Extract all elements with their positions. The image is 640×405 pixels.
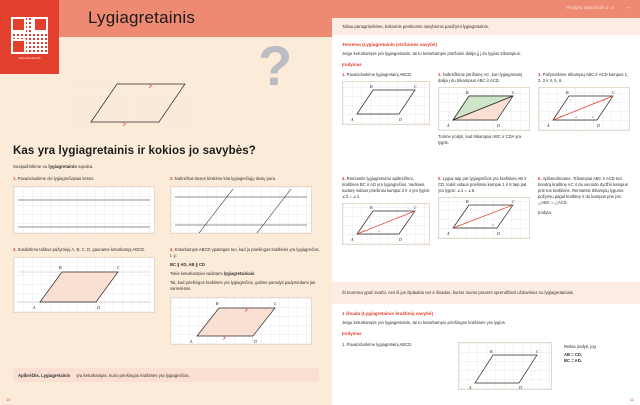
svg-text:4: 4	[378, 229, 380, 233]
svg-text:C: C	[612, 90, 615, 95]
proof-step-5-figure: 1 6 B C A D	[438, 197, 530, 239]
step-4-line2-prefix: Tokie keturkampiai vadinami	[170, 271, 224, 276]
corollary-step-1-label: 1. Pavaizduokime lygiagretainį ABCD.	[342, 342, 412, 347]
step-4-label: Keturkampis ABCD ypatingas tuo, kad jo p…	[170, 247, 320, 258]
svg-text:C: C	[414, 205, 417, 210]
proof-step-2-number: 2.	[438, 72, 442, 77]
svg-text:D: D	[496, 231, 500, 236]
lead-bold: lygiagretainio	[48, 164, 77, 169]
svg-text:1: 1	[470, 207, 472, 211]
step-4-text: 4. Keturkampis ABCD ypatingas tuo, kad j…	[170, 247, 320, 259]
step-4-line2-bold: lygiagretainiais	[224, 271, 255, 276]
svg-text:A: A	[189, 339, 193, 344]
workbook-reference-link[interactable]: Pratybų sąsiuvinis p. 4	[566, 5, 614, 10]
step-2-label: Nubrėžtas tieses kirskime kita lygiagreč…	[175, 176, 276, 181]
corollary-figure: B C A D	[458, 342, 552, 390]
svg-text:B: B	[466, 199, 469, 204]
proof-step-6-block: 6. Apibendriname. Trikampiai ABC ir ACD …	[538, 176, 630, 217]
proof-step-4-text: 4. Remiantis lygiagretainio apibrėžtimi,…	[342, 176, 430, 200]
corollary-title: 1 išvada (Lygiagretainio kraštinių savyb…	[342, 311, 632, 316]
proof-step-3-number: 3.	[538, 72, 542, 77]
proof-step-5-label: Lygiai taip pat lygiagrečios yra kraštin…	[438, 176, 527, 193]
proof-step-2-text: 2. Nubrėžkime įstrižainę AC, kuri lygiag…	[438, 72, 530, 84]
theorem-body: Jeigu keturkampis yra lygiagretainis, ta…	[342, 51, 632, 56]
svg-text:A: A	[350, 237, 354, 242]
qr-caption: vadovelis/lsomth	[18, 57, 40, 60]
svg-text:A: A	[446, 231, 450, 236]
proof-step-4-label: Remiantis lygiagretainio apibrėžtimi, kr…	[342, 176, 430, 199]
proof-step-3-text: 3. Pažymėkime trikampių ABC ir ACD kampu…	[538, 72, 630, 84]
step-2-block: 2. Nubrėžtas tieses kirskime kita lygiag…	[170, 176, 320, 234]
proof-step-1-number: 1.	[342, 72, 346, 77]
lead-suffix: sąvoka.	[77, 164, 93, 169]
svg-text:C: C	[117, 265, 120, 270]
step-1-figure	[13, 186, 155, 234]
proof-step-3-label: Pažymėkime trikampių ABC ir ACD kampus 1…	[538, 72, 628, 83]
svg-text:6: 6	[592, 115, 594, 119]
proof-step-4-block: 4. Remiantis lygiagretainio apibrėžtimi,…	[342, 176, 430, 245]
step-2-figure	[170, 186, 312, 234]
svg-text:C: C	[274, 301, 277, 306]
step-1-number: 1.	[13, 176, 17, 181]
proof-step-4-figure: 3 4 B C A D	[342, 203, 430, 245]
right-page: Pratybų sąsiuvinis p. 4 → Toliau panagri…	[332, 0, 640, 405]
note-text: Ši teorema ypač svarbi, nes iš jos išpla…	[332, 290, 584, 296]
proof-done-label: Įrodyta.	[538, 210, 630, 216]
svg-text:B: B	[216, 301, 219, 306]
section-heading: Kas yra lygiagretainis ir kokios jo savy…	[13, 145, 256, 157]
svg-text:C: C	[414, 84, 417, 89]
proof-step-1-block: 1. Pavaizduokime lygiagretainį ABCD. B C…	[342, 72, 430, 125]
proof-step-1-label: Pavaizduokime lygiagretainį ABCD.	[347, 72, 413, 77]
lead-paragraph: Susipažinkime su lygiagretainio sąvoka.	[13, 164, 93, 169]
step-4-number: 4.	[170, 247, 174, 252]
svg-text:B: B	[566, 90, 569, 95]
proof-step-3-block: 3. Pažymėkime trikampių ABC ir ACD kampu…	[538, 72, 630, 131]
proof-step-2-block: 2. Nubrėžkime įstrižainę AC, kuri lygiag…	[438, 72, 530, 146]
step-4-block: 4. Keturkampis ABCD ypatingas tuo, kad j…	[170, 247, 320, 345]
step-3-label: Susikirtimo taškus pažymėję A, B, C, D, …	[18, 247, 146, 252]
svg-text:D: D	[496, 123, 500, 128]
proof-step-6-number: 6.	[538, 176, 542, 181]
corollary-equation-2: BC = AD.	[564, 358, 634, 364]
proof-step-2-figure: B C A D	[438, 87, 530, 131]
page-title: Lygiagretainis	[88, 8, 195, 28]
corollary-step-1-block: 1. Pavaizduokime lygiagretainį ABCD.	[342, 342, 452, 348]
proof-step-5-number: 5.	[438, 176, 442, 181]
step-4-figure: B C A D	[170, 297, 312, 345]
svg-text:A: A	[546, 123, 550, 128]
lead-prefix: Susipažinkime su	[13, 164, 48, 169]
definition-rest: yra keturkampis, kurio priešingos krašti…	[70, 373, 190, 378]
step-4-line2: Tokie keturkampiai vadinami lygiagretain…	[170, 271, 320, 277]
step-3-number: 3.	[13, 247, 17, 252]
step-4-line2-suffix: .	[254, 271, 255, 276]
definition-box: Apibrėžtis. Lygiagretainis yra keturkamp…	[13, 368, 319, 382]
arrow-right-icon[interactable]: →	[625, 4, 632, 11]
svg-text:D: D	[518, 385, 522, 390]
qr-code-icon[interactable]	[11, 17, 48, 54]
step-4-formula: BC ∥ AD, AB ∥ CD	[170, 262, 320, 268]
proof-step-5-block: 5. Lygiai taip pat lygiagrečios yra kraš…	[438, 176, 530, 239]
proof-step-2-caption: Turime įrodyti, kad trikampiai ABC ir CD…	[438, 134, 530, 146]
corollary-side-note-block: Reikia įrodyti, jog AB = CD, BC = AD.	[564, 344, 634, 364]
left-page: vadovelis/lsomth Lygiagretainis ? Kas yr…	[0, 0, 332, 405]
proof-step-3-figure: 1 2 3 4 5 6 B C A D	[538, 87, 630, 131]
definition-text: Apibrėžtis. Lygiagretainis yra keturkamp…	[13, 373, 190, 378]
question-mark-decoration: ?	[258, 38, 292, 94]
proof-step-6-text: 6. Apibendriname. Trikampiai ABC ir ACD …	[538, 176, 630, 206]
step-1-block: 1. Pavaizduokime dvi lygiagrečiąsias tie…	[13, 176, 163, 234]
svg-text:1: 1	[570, 98, 572, 102]
step-3-figure: B C A D	[13, 257, 155, 313]
step-3-text: 3. Susikirtimo taškus pažymėję A, B, C, …	[13, 247, 163, 253]
corollary-side-note: Reikia įrodyti, jog	[564, 344, 634, 350]
proof-step-2-label: Nubrėžkime įstrižainę AC, kuri lygiagret…	[438, 72, 522, 83]
left-page-number: 10	[6, 397, 10, 402]
svg-text:D: D	[253, 339, 257, 344]
svg-text:D: D	[96, 305, 100, 310]
svg-text:D: D	[596, 123, 600, 128]
definition-bold: Apibrėžtis. Lygiagretainis	[18, 373, 70, 378]
intro-band: Toliau panagrinėkime, kokiomis penkiomis…	[332, 18, 640, 35]
svg-text:D: D	[398, 237, 402, 242]
corollary-step-1-text: 1. Pavaizduokime lygiagretainį ABCD.	[342, 342, 452, 348]
svg-text:2: 2	[603, 98, 605, 102]
svg-text:A: A	[350, 117, 354, 122]
corollary-body: Jeigu keturkampis yra lygiagretainis, ta…	[342, 320, 632, 325]
step-1-text: 1. Pavaizduokime dvi lygiagrečiąsias tie…	[13, 176, 163, 182]
step-2-text: 2. Nubrėžtas tieses kirskime kita lygiag…	[170, 176, 320, 182]
hero-parallelogram-figure	[73, 78, 193, 126]
svg-text:B: B	[490, 349, 493, 354]
svg-text:4: 4	[575, 115, 577, 119]
svg-text:5: 5	[593, 101, 595, 105]
corollary-proof-label: Įrodymas	[342, 331, 632, 336]
svg-text:A: A	[468, 385, 472, 390]
svg-text:3: 3	[363, 229, 365, 233]
svg-text:B: B	[466, 90, 469, 95]
svg-text:B: B	[370, 84, 373, 89]
textbook-spread: vadovelis/lsomth Lygiagretainis ? Kas yr…	[0, 0, 640, 405]
proof-step-1-figure: B C A D	[342, 81, 430, 125]
intro-text: Toliau panagrinėkime, kokiomis penkiomis…	[332, 24, 489, 29]
proof-step-1-text: 1. Pavaizduokime lygiagretainį ABCD.	[342, 72, 430, 78]
step-4-line3: Tai, kad priešingos kraštinės yra lygiag…	[170, 280, 320, 292]
note-band: Ši teorema ypač svarbi, nes iš jos išpla…	[332, 282, 640, 304]
svg-text:6: 6	[492, 223, 494, 227]
right-page-number: 11	[630, 397, 634, 402]
theorem-title: Teorema (Lygiagretainio įstrižainės savy…	[342, 42, 632, 47]
proof-step-5-text: 5. Lygiai taip pat lygiagrečios yra kraš…	[438, 176, 530, 194]
proof-step-4-number: 4.	[342, 176, 346, 181]
svg-text:A: A	[32, 305, 36, 310]
svg-text:D: D	[398, 117, 402, 122]
proof-label: Įrodymas	[342, 62, 632, 67]
svg-text:C: C	[536, 349, 539, 354]
step-3-block: 3. Susikirtimo taškus pažymėję A, B, C, …	[13, 247, 163, 313]
svg-text:3: 3	[560, 115, 562, 119]
step-1-label: Pavaizduokime dvi lygiagrečiąsias tieses…	[18, 176, 95, 181]
svg-text:C: C	[512, 90, 515, 95]
svg-text:C: C	[512, 199, 515, 204]
svg-text:B: B	[370, 205, 373, 210]
svg-text:A: A	[446, 123, 450, 128]
qr-code-block[interactable]: vadovelis/lsomth	[0, 0, 59, 74]
svg-text:B: B	[59, 265, 62, 270]
proof-step-6-label: Apibendriname. Trikampiai ABC ir ACD tur…	[538, 176, 628, 205]
step-2-number: 2.	[170, 176, 174, 181]
